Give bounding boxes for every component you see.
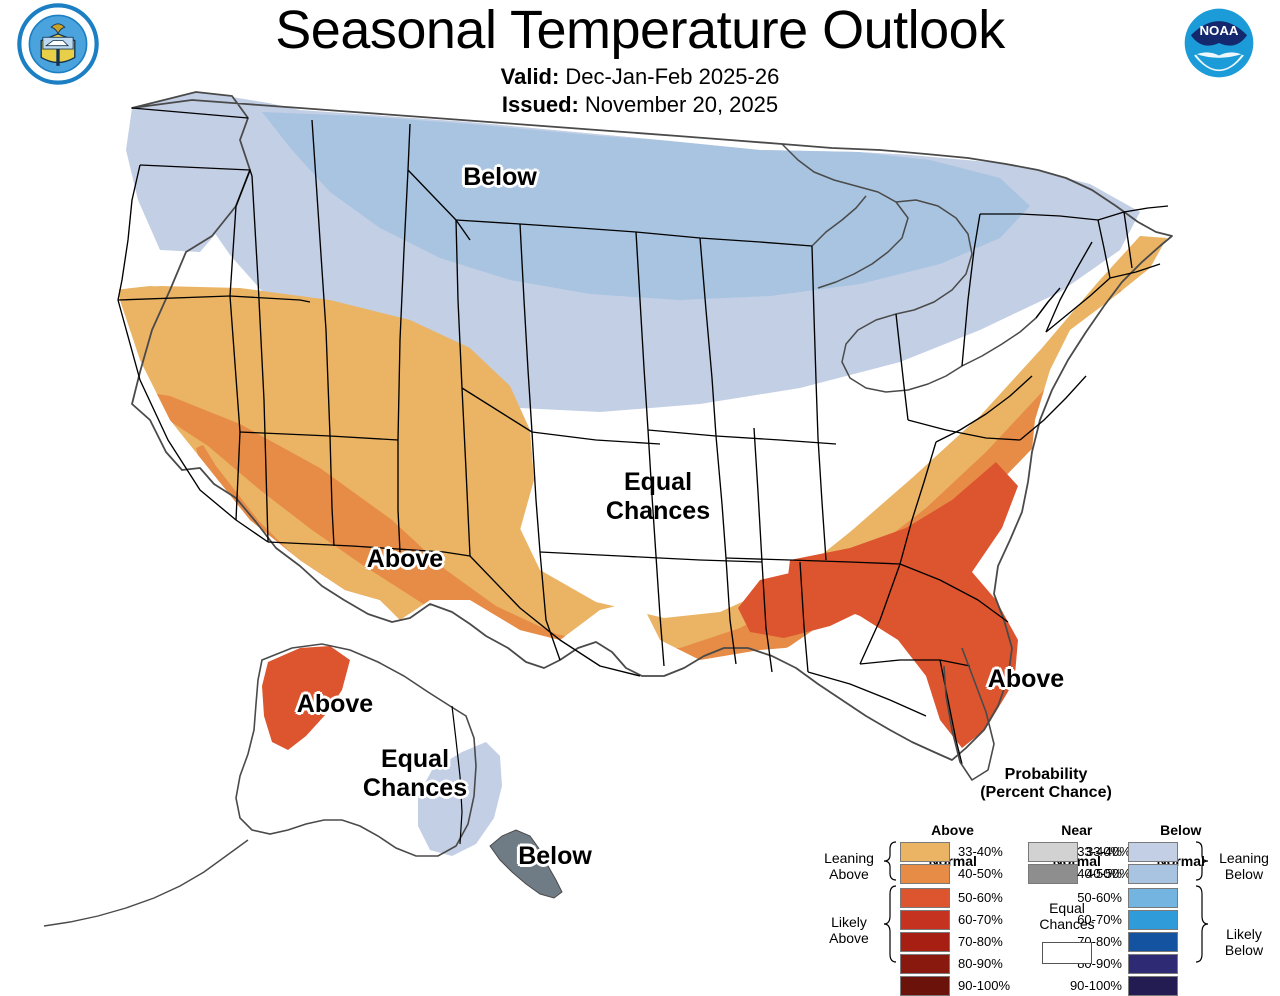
map-label-below-northern-plains: Below (440, 163, 560, 192)
issued-date-line: Issued:November 20, 2025 (0, 92, 1280, 118)
below-normal-label-33-40: 33-40% (1060, 842, 1122, 862)
below-normal-label-90-100: 90-100% (1060, 976, 1122, 996)
map-label-equal-chances-alaska: EqualChances (350, 745, 480, 803)
legend-equal-chances-swatch (1042, 942, 1092, 964)
above-normal-swatch-40-50 (900, 864, 950, 884)
legend-bracket-label-leaning-below: LeaningBelow (1208, 850, 1280, 882)
map-label-above-alaska: Above (280, 690, 390, 719)
above-normal-swatch-33-40 (900, 842, 950, 862)
above-normal-label-80-90: 80-90% (958, 954, 1003, 974)
head-below-line1: Below (1160, 822, 1201, 838)
map-label-above-florida: Above (966, 665, 1086, 694)
legend-title-line2: (Percent Chance) (980, 784, 1112, 801)
above-normal-label-33-40: 33-40% (958, 842, 1003, 862)
legend-equal-chances-label: EqualChances (1024, 900, 1110, 932)
valid-value: Dec-Jan-Feb 2025-26 (565, 64, 779, 89)
below-normal-swatch-80-90 (1128, 954, 1178, 974)
legend-bracket-label-leaning-above: LeaningAbove (812, 850, 886, 882)
legend-bracket-label-likely-below: LikelyBelow (1208, 926, 1280, 958)
legend-title-line1: Probability (1005, 766, 1088, 783)
issued-label: Issued: (502, 92, 579, 117)
bracket-likely-below (1196, 886, 1208, 962)
issued-value: November 20, 2025 (585, 92, 778, 117)
below-normal-swatch-70-80 (1128, 932, 1178, 952)
above-normal-label-90-100: 90-100% (958, 976, 1010, 996)
above-normal-label-70-80: 70-80% (958, 932, 1003, 952)
below-normal-swatch-40-50 (1128, 864, 1178, 884)
probability-legend: Probability (Percent Chance) Above Norma… (812, 766, 1280, 989)
valid-period-line: Valid:Dec-Jan-Feb 2025-26 (0, 64, 1280, 90)
above-normal-swatch-80-90 (900, 954, 950, 974)
below-normal-swatch-60-70 (1128, 910, 1178, 930)
above-normal-swatch-60-70 (900, 910, 950, 930)
above-normal-swatch-50-60 (900, 888, 950, 908)
above-normal-swatch-90-100 (900, 976, 950, 996)
map-label-equal-chances-plains: EqualChances (578, 468, 738, 526)
legend-title: Probability (Percent Chance) (812, 766, 1280, 803)
below-normal-label-40-50: 40-50% (1060, 864, 1122, 884)
below-normal-swatch-90-100 (1128, 976, 1178, 996)
above-normal-swatch-70-80 (900, 932, 950, 952)
head-above-line1: Above (931, 822, 974, 838)
legend-bracket-label-likely-above: LikelyAbove (812, 914, 886, 946)
valid-label: Valid: (501, 64, 560, 89)
page-title: Seasonal Temperature Outlook (0, 2, 1280, 59)
below-normal-swatch-33-40 (1128, 842, 1178, 862)
head-near-line1: Near (1061, 822, 1092, 838)
above-normal-label-50-60: 50-60% (958, 888, 1003, 908)
map-label-above-southwest: Above (340, 545, 470, 574)
above-normal-label-60-70: 60-70% (958, 910, 1003, 930)
above-normal-label-40-50: 40-50% (958, 864, 1003, 884)
map-label-below-alaska: Below (500, 842, 610, 871)
below-normal-swatch-50-60 (1128, 888, 1178, 908)
